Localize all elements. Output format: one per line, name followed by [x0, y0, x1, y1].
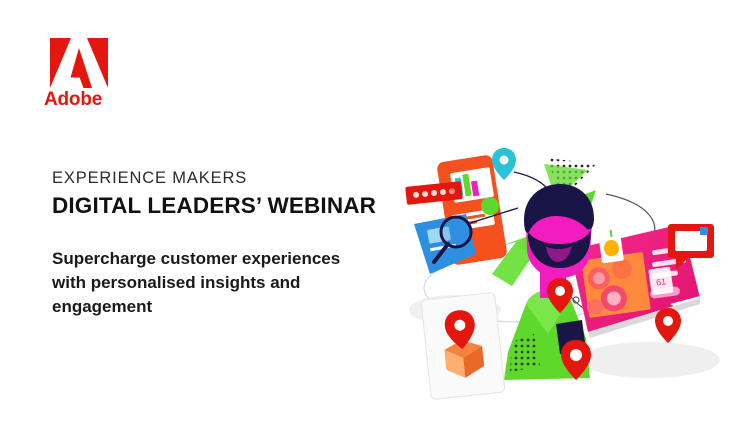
- adobe-wordmark: Adobe: [44, 90, 118, 109]
- headline-block: EXPERIENCE MAKERS DIGITAL LEADERS’ WEBIN…: [52, 168, 402, 319]
- fruit-icon: [598, 230, 624, 263]
- subcopy-text: Supercharge customer experiences with pe…: [52, 247, 402, 319]
- subcopy-line: engagement: [52, 295, 402, 319]
- location-pin-icon-cyan: [492, 148, 516, 180]
- adobe-a-mark-icon: [48, 38, 110, 88]
- eyebrow-text: EXPERIENCE MAKERS: [52, 168, 402, 189]
- hero-illustration: 61: [400, 128, 750, 408]
- location-pin-icon-red-2: [655, 308, 681, 343]
- adobe-logo: Adobe: [44, 38, 118, 118]
- webinar-promo-banner: Adobe EXPERIENCE MAKERS DIGITAL LEADERS’…: [0, 0, 750, 422]
- package-icon: [421, 292, 505, 399]
- subcopy-line: with personalised insights and: [52, 271, 402, 295]
- svg-text:61: 61: [655, 276, 666, 287]
- page-title: DIGITAL LEADERS’ WEBINAR: [52, 192, 402, 220]
- subcopy-line: Supercharge customer experiences: [52, 247, 402, 271]
